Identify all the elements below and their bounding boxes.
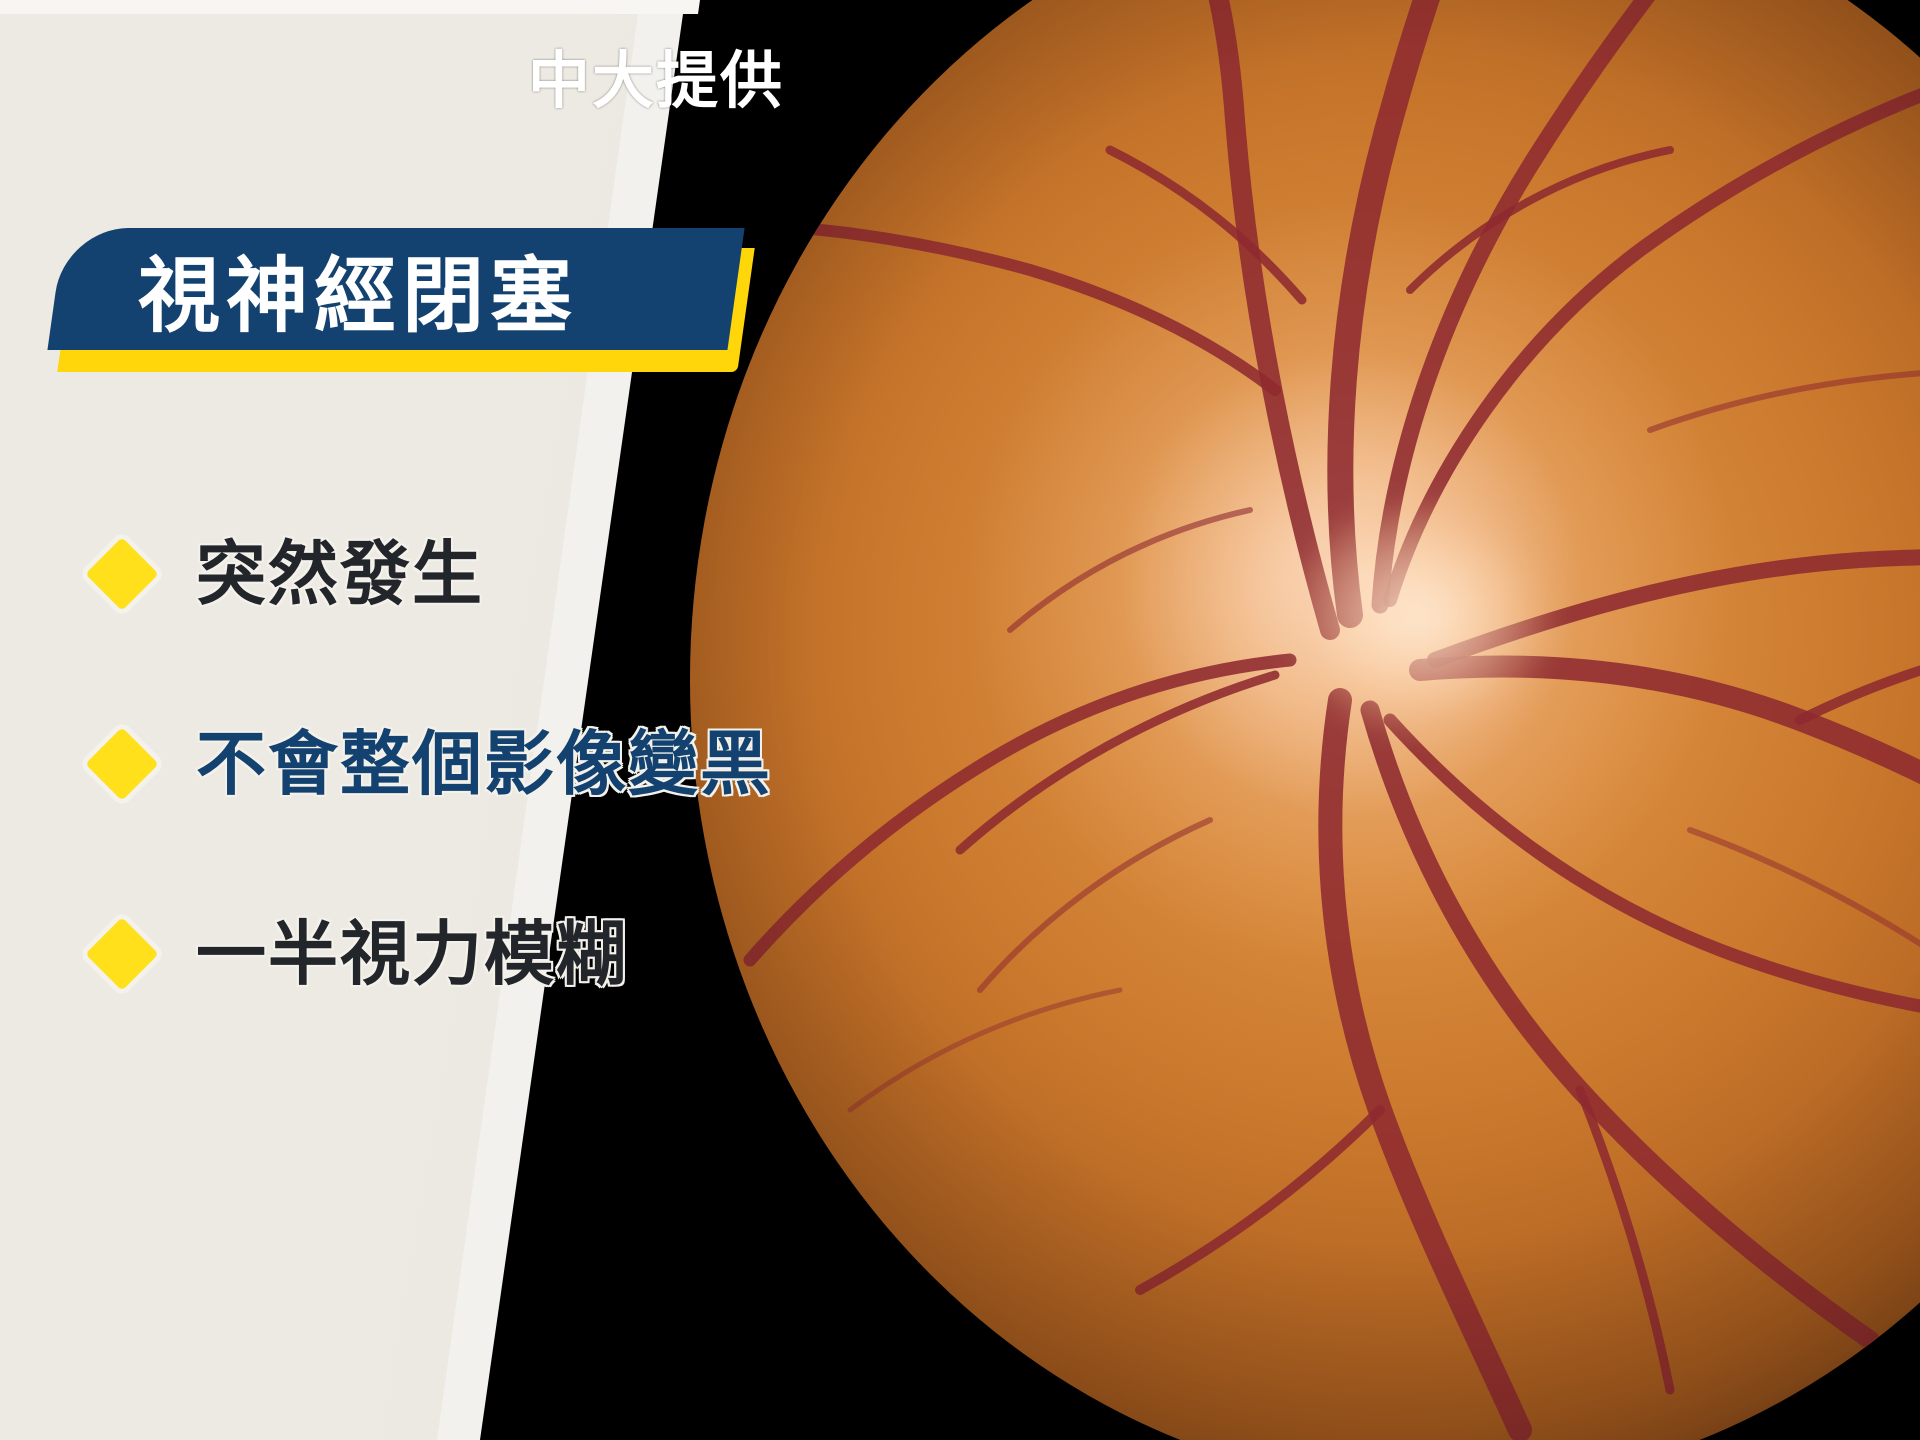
list-item-label: 一半視力模糊 <box>196 919 628 989</box>
list-item-label: 突然發生 <box>196 539 484 609</box>
slide-root: 中大提供 視神經閉塞 突然發生 不會整個影像變黑 一半視力模糊 <box>0 0 1920 1440</box>
optic-disc <box>1290 502 1550 732</box>
title-banner: 視神經閉塞 <box>56 228 746 378</box>
retinal-vessels <box>690 0 1920 1440</box>
list-item: 不會整個影像變黑 <box>96 718 716 810</box>
source-credit-label: 中大提供 <box>528 50 784 112</box>
diamond-bullet-icon <box>85 537 159 611</box>
panel-top-strip <box>0 0 700 14</box>
page-title: 視神經閉塞 <box>138 236 578 358</box>
list-item: 突然發生 <box>96 528 716 620</box>
fundus-disc <box>690 0 1920 1440</box>
list-item-label: 不會整個影像變黑 <box>196 729 772 799</box>
list-item: 一半視力模糊 <box>96 908 716 1000</box>
diamond-bullet-icon <box>85 917 159 991</box>
symptom-list: 突然發生 不會整個影像變黑 一半視力模糊 <box>96 528 716 1000</box>
diamond-bullet-icon <box>85 727 159 801</box>
